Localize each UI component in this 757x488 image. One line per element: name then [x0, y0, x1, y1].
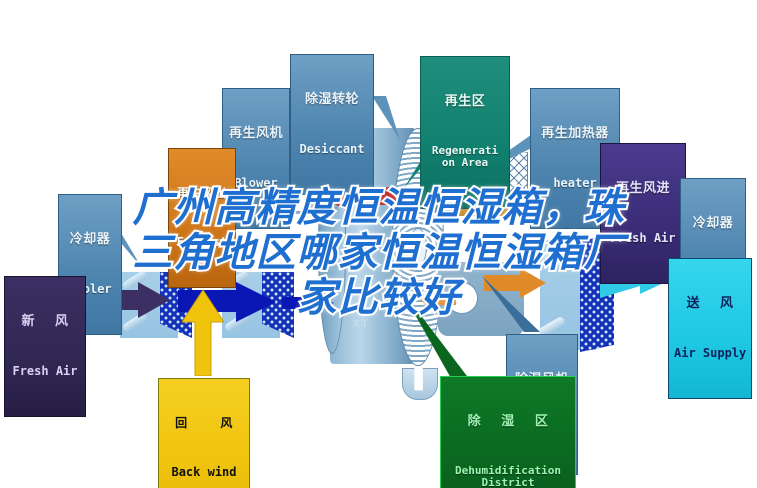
callout-fresh-air-left-en: Fresh Air — [10, 365, 80, 378]
callout-air-supply-cn: 送 风 — [674, 297, 746, 312]
callout-air-supply[interactable]: 送 风 Air Supply — [668, 258, 752, 399]
callout-regeneration-area-cn: 再生区 — [426, 95, 504, 110]
callout-desiccant-en: Desiccant — [296, 143, 368, 156]
callout-back-wind-cn: 回 风 — [164, 417, 244, 430]
callout-exhaust[interactable]: 再生风出 Exhaust — [168, 148, 236, 288]
callout-dehumidification-district[interactable]: 除 湿 区 Dehumidification District — [440, 376, 576, 488]
callout-cooler-right-cn: 冷却器 — [686, 217, 740, 232]
diagram-canvas: XT — [0, 0, 757, 488]
callout-regeneration-area[interactable]: 再生区 Regenerati on Area — [420, 56, 510, 209]
callout-cooler-left-cn: 冷却器 — [64, 233, 116, 248]
callout-dehumidification-district-en: Dehumidification District — [446, 465, 570, 488]
callout-exhaust-en: Exhaust — [174, 236, 230, 249]
callout-desiccant-cn: 除湿转轮 — [296, 93, 368, 108]
callout-desiccant[interactable]: 除湿转轮 Desiccant — [290, 54, 374, 195]
callout-exhaust-cn: 再生风出 — [174, 187, 230, 200]
callout-regen-air-in-cn: 再生风进 — [606, 182, 680, 197]
callout-regen-air-in-en: Fresh Air — [606, 232, 680, 245]
callout-regeneration-area-en: Regenerati on Area — [426, 145, 504, 170]
callout-fresh-air-left[interactable]: 新 风 Fresh Air — [4, 276, 86, 417]
callout-regen-blower-en: Blower — [228, 177, 284, 190]
callout-regen-heater-cn: 再生加热器 — [536, 127, 614, 142]
callout-regen-blower-cn: 再生风机 — [228, 127, 284, 142]
callout-dehumidification-district-cn: 除 湿 区 — [446, 415, 570, 430]
callout-back-wind-en: Back wind — [164, 466, 244, 479]
callout-fresh-air-left-cn: 新 风 — [10, 315, 80, 330]
callout-back-wind[interactable]: 回 风 Back wind — [158, 378, 250, 488]
callout-air-supply-en: Air Supply — [674, 347, 746, 360]
